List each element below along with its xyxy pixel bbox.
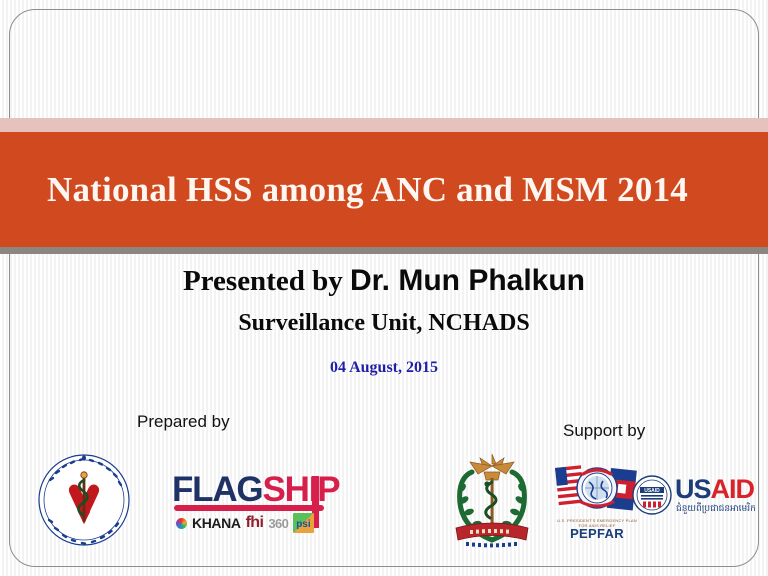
khana-icon bbox=[176, 518, 187, 529]
pepfar-logo: U.S. PRESIDENT'S EMERGENCY PLAN FOR AIDS… bbox=[553, 462, 641, 544]
presentation-date: 04 August, 2015 bbox=[0, 359, 768, 377]
fhi360-label: fhi bbox=[246, 514, 264, 532]
usaid-seal-icon: USAID bbox=[631, 474, 673, 518]
psi-icon: psi bbox=[293, 513, 313, 533]
prepared-by-label: Prepared by bbox=[137, 412, 230, 432]
title-divider bbox=[0, 247, 768, 254]
flagship-swoosh-mark bbox=[174, 505, 324, 511]
nchads-logo bbox=[30, 450, 138, 550]
title-band: National HSS among ANC and MSM 2014 bbox=[0, 132, 768, 247]
presenter-block: Presented by Dr. Mun Phalkun Surveillanc… bbox=[0, 262, 768, 377]
title-accent-strip bbox=[0, 118, 768, 132]
presentation-slide: National HSS among ANC and MSM 2014 Pres… bbox=[0, 0, 768, 576]
svg-text:USAID: USAID bbox=[644, 488, 660, 494]
support-by-label: Support by bbox=[563, 421, 645, 441]
flagship-word-first: FLAG bbox=[172, 470, 262, 509]
page-title: National HSS among ANC and MSM 2014 bbox=[0, 170, 688, 210]
pepfar-logo-icon bbox=[553, 462, 641, 520]
usaid-word-first: US bbox=[675, 474, 711, 504]
ministry-of-health-logo bbox=[440, 448, 544, 552]
pepfar-label: PEPFAR bbox=[553, 526, 641, 541]
usaid-wordmark: USAID bbox=[675, 476, 754, 503]
presented-by-label: Presented by bbox=[183, 265, 350, 297]
presented-by-line: Presented by Dr. Mun Phalkun bbox=[0, 262, 768, 300]
usaid-khmer-subtitle: ជំនួយពីប្រជាជនអាមេរិក bbox=[676, 503, 756, 516]
psi-label: psi bbox=[296, 519, 310, 530]
ministry-of-health-logo-icon bbox=[440, 448, 544, 552]
presenter-unit: Surveillance Unit, NCHADS bbox=[0, 306, 768, 340]
khana-label: KHANA bbox=[192, 515, 241, 531]
presenter-name: Dr. Mun Phalkun bbox=[350, 264, 585, 297]
fhi360-number: 360 bbox=[268, 516, 288, 531]
flagship-word-second: SHIP bbox=[262, 470, 339, 509]
flagship-partner-logos: KHANA fhi360 psi bbox=[176, 513, 314, 533]
flagship-logo: FLAGSHIP KHANA fhi360 psi bbox=[172, 472, 342, 534]
usaid-word-second: AID bbox=[711, 474, 755, 504]
nchads-logo-icon bbox=[30, 450, 138, 550]
usaid-logo: USAID USAID ជំនួយពីប្រជាជនអាមេរិក bbox=[631, 474, 757, 522]
